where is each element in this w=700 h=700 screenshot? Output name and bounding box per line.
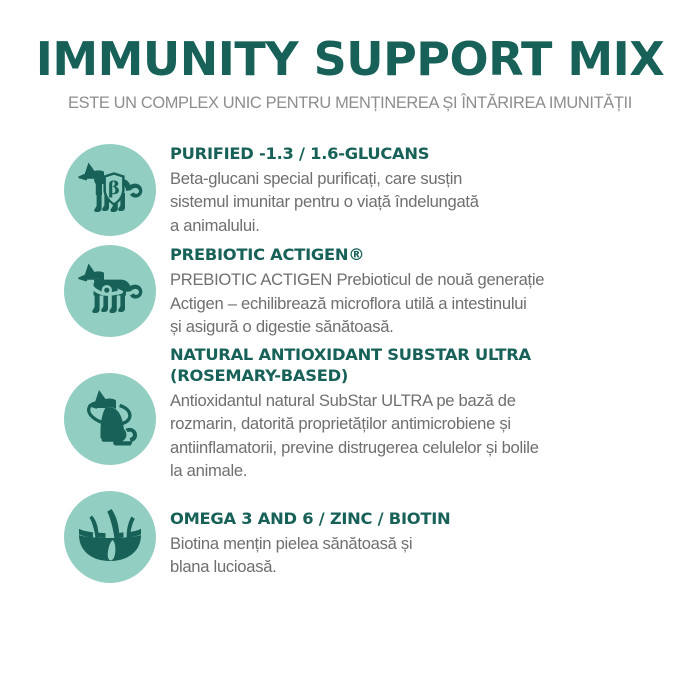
feature-body-line: Beta-glucani special purificați, care su… [170, 167, 678, 191]
feature-item-antioxidant-substar: NATURAL ANTIOXIDANT SUBSTAR ULTRA (ROSEM… [58, 345, 678, 483]
text-wrap: PREBIOTIC ACTIGEN® PREBIOTIC ACTIGEN Pre… [162, 243, 678, 339]
text-wrap: PURIFIED -1.3 / 1.6-GLUCANS Beta-glucani… [162, 142, 678, 238]
text-wrap: NATURAL ANTIOXIDANT SUBSTAR ULTRA (ROSEM… [162, 345, 678, 483]
feature-title-line: PREBIOTIC ACTIGEN® [170, 245, 678, 266]
feature-item-prebiotic-actigen: PREBIOTIC ACTIGEN® PREBIOTIC ACTIGEN Pre… [58, 243, 678, 339]
page-title: IMMUNITY SUPPORT MIX [0, 36, 700, 83]
header: IMMUNITY SUPPORT MIX ESTE UN COMPLEX UNI… [0, 0, 700, 113]
feature-body: PREBIOTIC ACTIGEN Prebioticul de nouă ge… [170, 268, 678, 339]
feature-body-line: Biotina mențin pielea sănătoasă și [170, 532, 678, 556]
feature-item-purified-glucans: β PURIFIED -1.3 / 1.6-GLUCANS Beta-gluca… [58, 142, 678, 238]
feature-title-line: (ROSEMARY-BASED) [170, 366, 678, 387]
feature-list: β PURIFIED -1.3 / 1.6-GLUCANS Beta-gluca… [0, 142, 700, 583]
dog-with-beta-shield-icon: β [77, 160, 143, 220]
feature-body: Antioxidantul natural SubStar ULTRA pe b… [170, 389, 678, 483]
feature-title-line: NATURAL ANTIOXIDANT SUBSTAR ULTRA [170, 345, 678, 366]
feature-body-line: Actigen – echilibrează microflora utilă … [170, 292, 678, 316]
icon-wrap [58, 245, 162, 337]
icon-wrap: β [58, 144, 162, 236]
feature-title: OMEGA 3 AND 6 / ZINC / BIOTIN [170, 509, 678, 530]
feature-title: NATURAL ANTIOXIDANT SUBSTAR ULTRA (ROSEM… [170, 345, 678, 387]
immunity-support-mix-infographic: IMMUNITY SUPPORT MIX ESTE UN COMPLEX UNI… [0, 0, 700, 700]
text-wrap: OMEGA 3 AND 6 / ZINC / BIOTIN Biotina me… [162, 491, 678, 579]
hair-follicles-skin-icon [76, 508, 144, 566]
feature-body: Biotina mențin pielea sănătoasă și blana… [170, 532, 678, 579]
feature-body-line: a animalului. [170, 214, 678, 238]
icon-wrap [58, 491, 162, 583]
feature-body-line: rozmarin, datorită proprietăților antimi… [170, 412, 678, 436]
feature-body-line: PREBIOTIC ACTIGEN Prebioticul de nouă ge… [170, 268, 678, 292]
feature-title: PURIFIED -1.3 / 1.6-GLUCANS [170, 144, 678, 165]
icon-badge: β [64, 144, 156, 236]
feature-title-line: OMEGA 3 AND 6 / ZINC / BIOTIN [170, 509, 678, 530]
feature-body-line: la animale. [170, 459, 678, 483]
feature-body-line: și asigură o digestie sănătoasă. [170, 315, 678, 339]
page-subtitle: ESTE UN COMPLEX UNIC PENTRU MENȚINEREA Ș… [0, 94, 700, 113]
dog-with-digestive-arrow-icon [77, 262, 143, 320]
feature-body: Beta-glucani special purificați, care su… [170, 167, 678, 238]
icon-badge [64, 491, 156, 583]
icon-wrap [58, 373, 162, 465]
svg-text:β: β [108, 178, 120, 199]
feature-body-line: sistemul imunitar pentru o viață îndelun… [170, 190, 678, 214]
feature-title: PREBIOTIC ACTIGEN® [170, 245, 678, 266]
icon-badge [64, 373, 156, 465]
feature-body-line: antiinflamatorii, previne distrugerea ce… [170, 436, 678, 460]
feature-body-line: Antioxidantul natural SubStar ULTRA pe b… [170, 389, 678, 413]
icon-badge [64, 245, 156, 337]
feature-body-line: blana lucioasă. [170, 555, 678, 579]
feature-item-omega-zinc-biotin: OMEGA 3 AND 6 / ZINC / BIOTIN Biotina me… [58, 491, 678, 583]
sitting-dog-with-orbit-ring-icon [78, 389, 142, 449]
feature-title-line: PURIFIED -1.3 / 1.6-GLUCANS [170, 144, 678, 165]
